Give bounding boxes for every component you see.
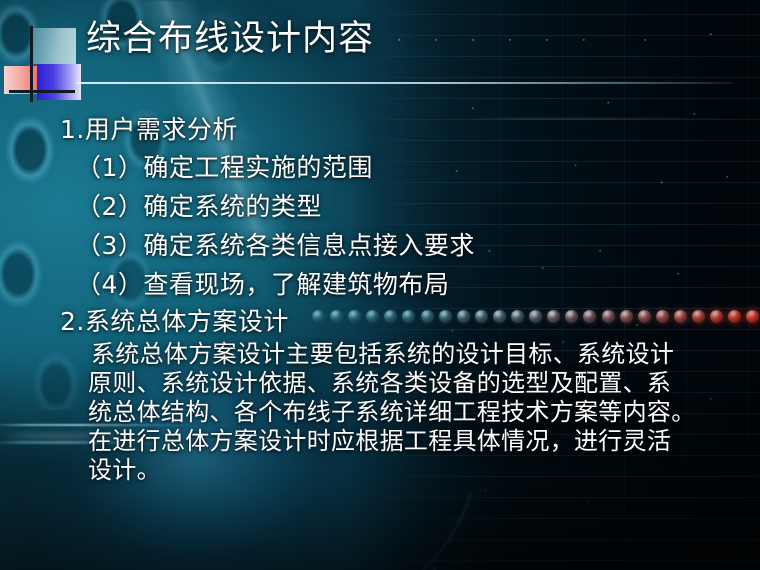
logo-rect-teal xyxy=(32,28,76,64)
paragraph-line: 在进行总体方案设计时应根据工程具体情况，进行灵活 xyxy=(88,427,736,456)
slide-title: 综合布线设计内容 xyxy=(86,20,374,59)
paragraph-line: 设计。 xyxy=(88,456,736,485)
presentation-logo xyxy=(4,26,80,102)
logo-line-horizontal xyxy=(9,90,75,93)
outline-line: 2.系统总体方案设计 xyxy=(0,304,760,340)
outline-list: 1.用户需求分析（1）确定工程实施的范围（2）确定系统的类型（3）确定系统各类信… xyxy=(0,112,760,340)
outline-line: （4）查看现场，了解建筑物布局 xyxy=(0,265,760,304)
title-underline-rule xyxy=(76,82,732,84)
outline-line: （3）确定系统各类信息点接入要求 xyxy=(0,226,760,265)
slide-canvas: 综合布线设计内容 1.用户需求分析（1）确定工程实施的范围（2）确定系统的类型（… xyxy=(0,0,760,570)
paragraph-line: 统总体结构、各个布线子系统详细工程技术方案等内容。 xyxy=(88,398,736,427)
paragraph-line: 系统总体方案设计主要包括系统的设计目标、系统设计 xyxy=(88,340,736,369)
logo-rect-blue xyxy=(37,64,81,100)
outline-line: （1）确定工程实施的范围 xyxy=(0,148,760,187)
outline-line: （2）确定系统的类型 xyxy=(0,187,760,226)
slide-body: 1.用户需求分析（1）确定工程实施的范围（2）确定系统的类型（3）确定系统各类信… xyxy=(0,112,760,485)
paragraph-line: 原则、系统设计依据、系统各类设备的选型及配置、系 xyxy=(88,369,736,398)
body-paragraph: 系统总体方案设计主要包括系统的设计目标、系统设计原则、系统设计依据、系统各类设备… xyxy=(0,340,760,485)
outline-line: 1.用户需求分析 xyxy=(0,112,760,148)
